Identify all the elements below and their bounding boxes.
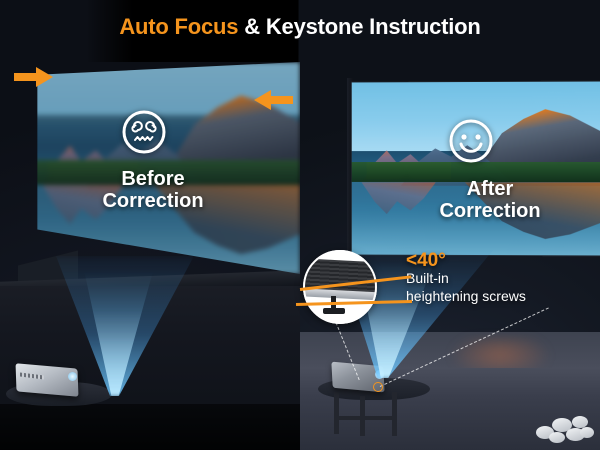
after-correction-label: After Correction xyxy=(405,178,575,223)
title-rest: & Keystone Instruction xyxy=(238,14,480,39)
right-wall-glow xyxy=(440,338,560,372)
after-label-line1: After xyxy=(405,178,575,200)
after-correction-screen xyxy=(352,82,600,256)
left-floor-shadow xyxy=(0,404,300,450)
arrow-right-orange-icon xyxy=(14,66,54,93)
arrow-left-orange-icon xyxy=(253,89,293,116)
decorative-stones xyxy=(536,414,594,444)
screws-description-line2: heightening screws xyxy=(406,288,526,306)
projected-scene-sharp xyxy=(352,82,600,256)
right-table-legs xyxy=(330,392,414,438)
screw-location-marker xyxy=(373,382,383,392)
smiley-face-icon xyxy=(447,117,495,165)
right-projector-lens xyxy=(375,370,384,379)
angle-callout: <40° xyxy=(406,250,446,272)
title-highlight: Auto Focus xyxy=(119,14,238,39)
before-label-line2: Correction xyxy=(68,190,238,212)
screws-description: Built-in heightening screws xyxy=(406,270,526,306)
after-label-line2: Correction xyxy=(405,200,575,222)
instruction-graphic: Before Correction xyxy=(0,0,600,450)
before-label-line1: Before xyxy=(68,168,238,190)
left-projector-lens xyxy=(68,372,77,381)
screws-description-line1: Built-in xyxy=(406,270,526,288)
dizzy-face-icon xyxy=(120,108,168,156)
page-title: Auto Focus & Keystone Instruction xyxy=(0,14,600,40)
before-correction-label: Before Correction xyxy=(68,168,238,213)
heightening-screw-foot xyxy=(323,308,345,314)
